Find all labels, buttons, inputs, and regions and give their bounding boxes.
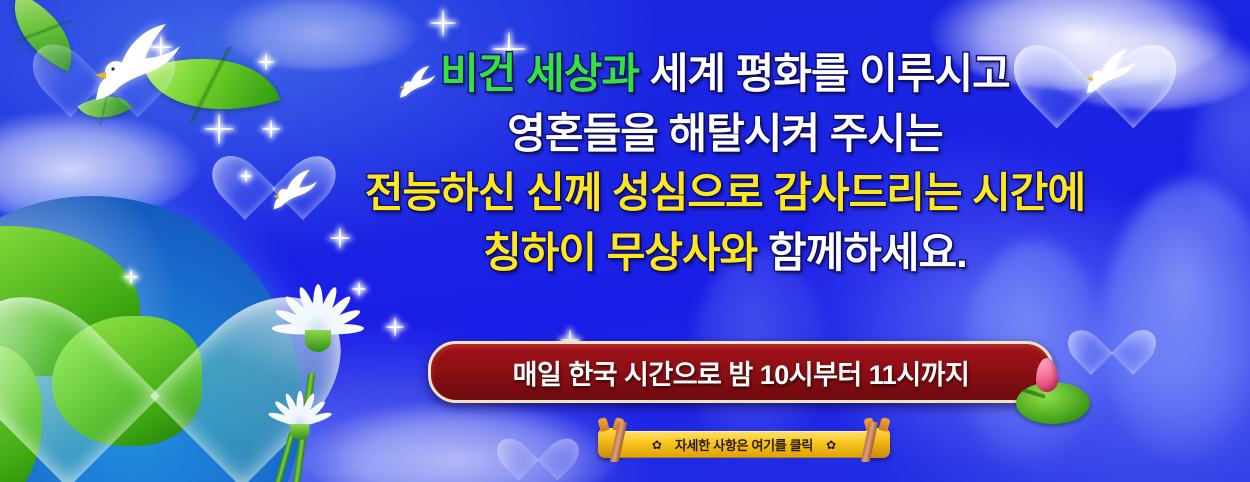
banner-root: 비건 세상과 세계 평화를 이루시고 영혼들을 해탈시켜 주시는 전능하신 신께… [0,0,1250,482]
heart-bubble-bottom-center [510,420,566,470]
details-link-label: 자세한 사항은 여기를 클릭 [675,435,813,454]
flower-icon-right: ✿ [826,439,836,451]
headline-line-1-segment-2: 세계 평화를 이루시고 [650,50,1010,97]
headline-line-3: 전능하신 신께 성심으로 감사드리는 시간에 [330,163,1120,223]
sparkle-4 [258,54,274,70]
dove-mid-left [268,169,325,214]
glass-heart-overlay [30,212,280,442]
flower-icon-left: ✿ [652,439,662,451]
headline-line-4-segment-1: 칭하이 무상사와 [483,229,768,276]
headline-line-1: 비건 세상과 세계 평화를 이루시고 [330,44,1120,104]
lotus-decoration [1010,358,1100,428]
headline-line-4-segment-2: 함께하세요. [768,229,967,276]
lotus-bud [1036,358,1058,392]
dove-top-left [86,22,196,108]
headline-line-1-segment-1: 비건 세상과 [440,50,650,97]
broadcast-time-label: 매일 한국 시간으로 밤 10시부터 11시까지 [513,353,970,392]
headline-line-2-segment-1: 영혼들을 해탈시켜 주시는 [507,110,942,157]
heart-bubble-bottom-right [1082,310,1142,364]
ghost-figure-far-right [1190,60,1250,250]
sparkle-9 [386,318,404,336]
headline-line-2: 영혼들을 해탈시켜 주시는 [330,104,1120,164]
broadcast-time-button[interactable]: 매일 한국 시간으로 밤 10시부터 11시까지 [428,341,1054,403]
scroll-sheet[interactable]: ✿ 자세한 사항은 여기를 클릭 ✿ [616,431,872,458]
details-scroll-banner[interactable]: ✿ 자세한 사항은 여기를 클릭 ✿ [598,424,890,464]
headline-block: 비건 세상과 세계 평화를 이루시고 영혼들을 해탈시켜 주시는 전능하신 신께… [330,44,1120,283]
sparkle-5 [430,10,456,36]
headline-line-3-segment-1: 전능하신 신께 성심으로 감사드리는 시간에 [365,169,1085,216]
headline-line-4: 칭하이 무상사와 함께하세요. [330,223,1120,283]
sparkle-2 [204,114,234,144]
sparkle-8 [352,282,366,296]
